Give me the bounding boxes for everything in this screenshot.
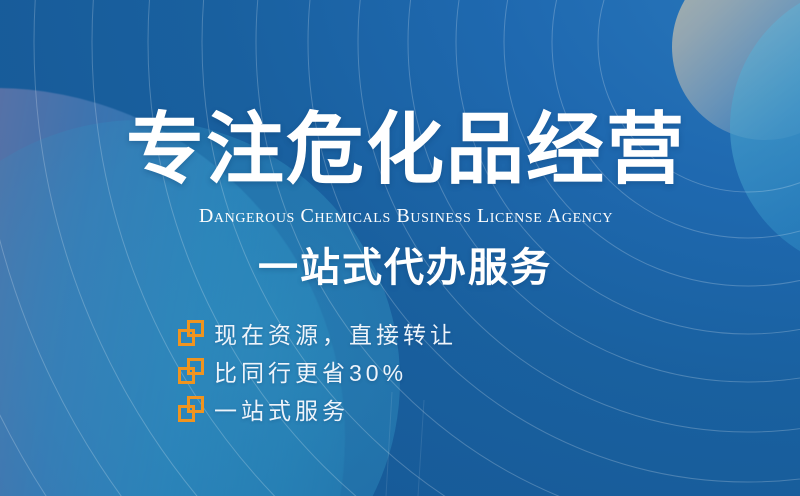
- overlapping-squares-icon: [178, 320, 204, 346]
- chinese-subtitle: 一站式代办服务: [0, 246, 800, 290]
- list-item-label: 现在资源，直接转让: [214, 316, 457, 350]
- page-title: 专注危化品经营: [0, 110, 800, 188]
- banner-content: 专注危化品经营 Dangerous Chemicals Business Lic…: [0, 0, 800, 496]
- overlapping-squares-icon: [178, 358, 204, 384]
- list-item-label: 比同行更省30%: [214, 354, 407, 388]
- promo-banner: 专注危化品经营 Dangerous Chemicals Business Lic…: [0, 0, 800, 496]
- list-item: 比同行更省30%: [178, 352, 457, 390]
- list-item: 现在资源，直接转让: [178, 314, 457, 352]
- feature-list: 现在资源，直接转让 比同行更省30% 一站式服务: [178, 314, 457, 428]
- english-subtitle: Dangerous Chemicals Business License Age…: [0, 205, 800, 228]
- list-item-label: 一站式服务: [214, 392, 349, 426]
- overlapping-squares-icon: [178, 396, 204, 422]
- list-item: 一站式服务: [178, 390, 457, 428]
